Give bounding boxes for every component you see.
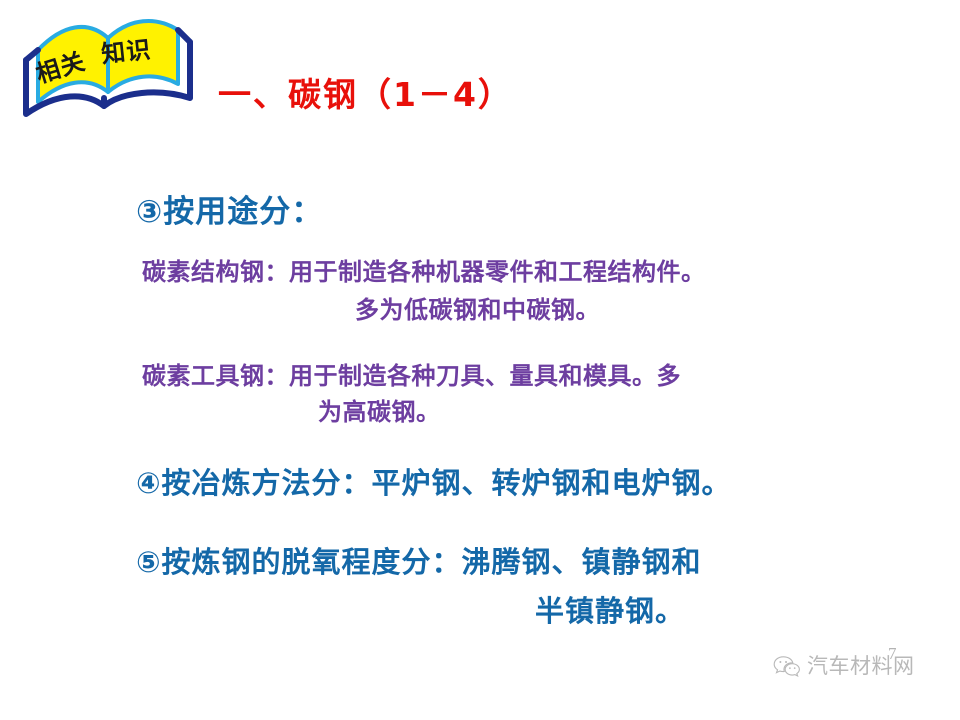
item3-paragraph2-line1: 碳素工具钢：用于制造各种刀具、量具和模具。多: [142, 356, 681, 391]
item3-paragraph1-line2: 多为低碳钢和中碳钢。: [355, 290, 600, 325]
item5-line1: ⑤按炼钢的脱氧程度分：沸腾钢、镇静钢和: [136, 539, 702, 581]
slide-canvas: 相关 知识 一、碳钢（1－4） ③按用途分： 碳素结构钢：用于制造各种机器零件和…: [0, 0, 960, 720]
slide-content: ③按用途分： 碳素结构钢：用于制造各种机器零件和工程结构件。 多为低碳钢和中碳钢…: [0, 0, 960, 720]
watermark-text: 汽车材料网: [807, 650, 915, 680]
item5-line2: 半镇静钢。: [535, 588, 685, 630]
wechat-icon: [773, 654, 800, 677]
item3-heading: ③按用途分：: [136, 186, 323, 231]
item3-paragraph1-line1: 碳素结构钢：用于制造各种机器零件和工程结构件。: [142, 252, 706, 287]
item4-line: ④按冶炼方法分：平炉钢、转炉钢和电炉钢。: [136, 460, 732, 502]
item3-paragraph2-line2: 为高碳钢。: [318, 392, 441, 427]
watermark: 汽车材料网: [773, 650, 915, 680]
